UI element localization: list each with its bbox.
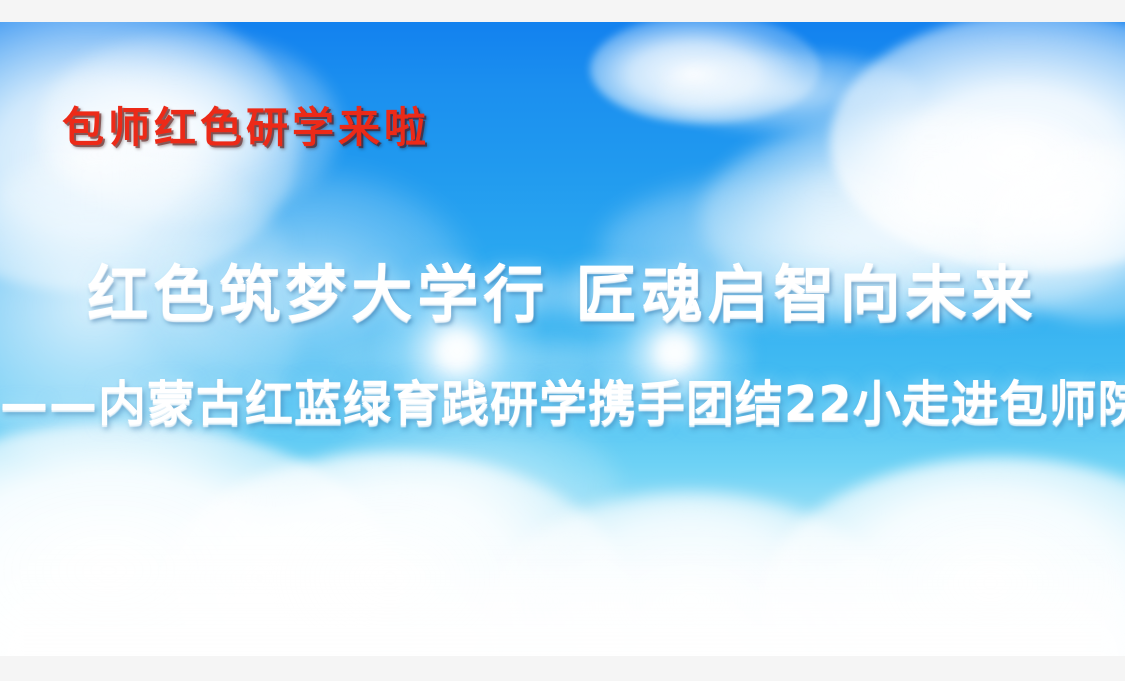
subtitle: ——内蒙古红蓝绿育践研学携手团结22小走进包师院 [0,364,1125,434]
title-text-layer: 包师红色研学来啦 红色筑梦大学行 匠魂启智向未来 ——内蒙古红蓝绿育践研学携手团… [0,22,1125,656]
red-headline: 包师红色研学来啦 [62,94,430,155]
letterbox-top [0,0,1125,22]
letterbox-bottom [0,656,1125,681]
slide-canvas: 包师红色研学来啦 红色筑梦大学行 匠魂启智向未来 ——内蒙古红蓝绿育践研学携手团… [0,0,1125,681]
main-title: 红色筑梦大学行 匠魂启智向未来 [0,244,1125,333]
